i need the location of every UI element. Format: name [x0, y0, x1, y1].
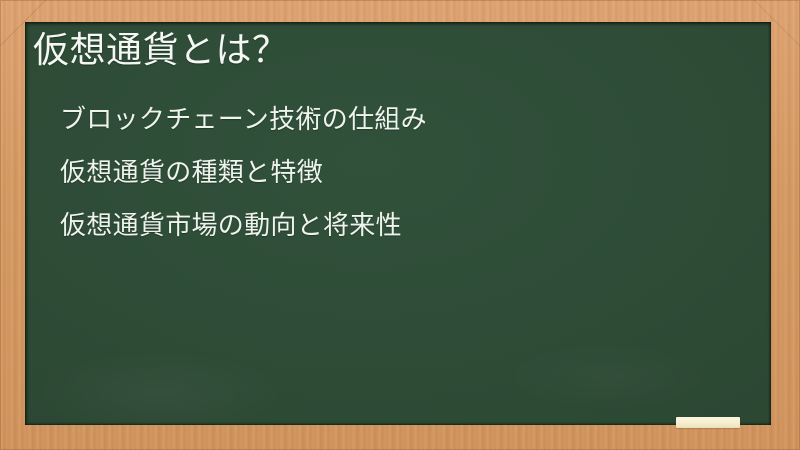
chalkboard-slide: 仮想通貨とは？ ブロックチェーン技術の仕組み 仮想通貨の種類と特徴 仮想通貨市場… — [0, 0, 800, 450]
chalkboard-surface: 仮想通貨とは？ ブロックチェーン技術の仕組み 仮想通貨の種類と特徴 仮想通貨市場… — [25, 22, 771, 425]
bullet-item-3: 仮想通貨市場の動向と将来性 — [60, 210, 427, 240]
bullet-item-2: 仮想通貨の種類と特徴 — [60, 157, 427, 187]
bullet-list: ブロックチェーン技術の仕組み 仮想通貨の種類と特徴 仮想通貨市場の動向と将来性 — [60, 104, 427, 240]
chalk-stick — [676, 417, 740, 428]
bullet-item-1: ブロックチェーン技術の仕組み — [60, 104, 427, 134]
slide-title: 仮想通貨とは？ — [33, 28, 289, 72]
board-content: 仮想通貨とは？ ブロックチェーン技術の仕組み 仮想通貨の種類と特徴 仮想通貨市場… — [25, 22, 771, 425]
